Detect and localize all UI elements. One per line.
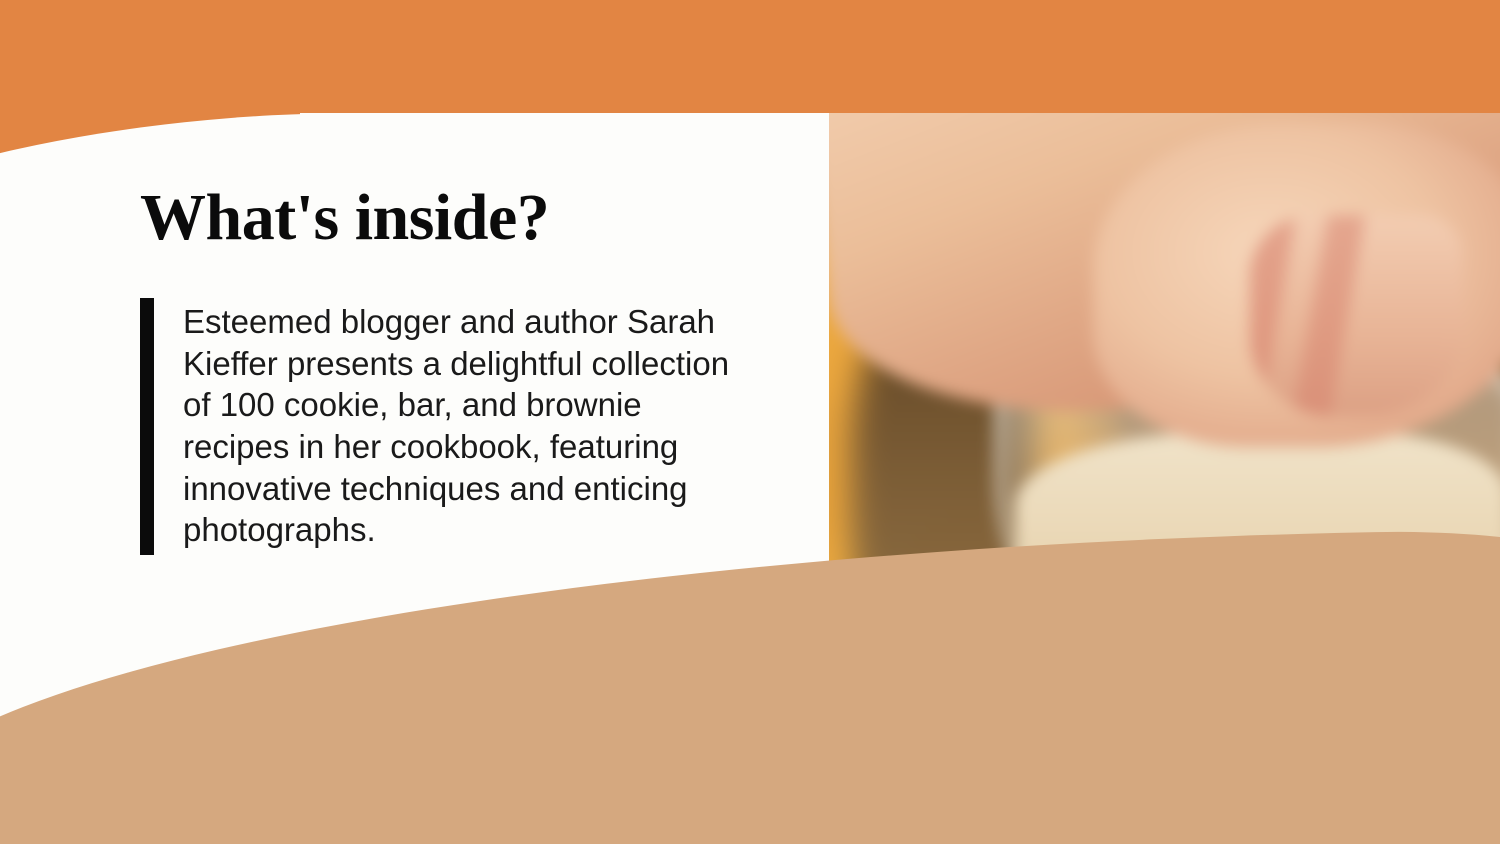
- body-paragraph: Esteemed blogger and author Sarah Kieffe…: [183, 298, 743, 554]
- photo-fingers: [1250, 215, 1463, 416]
- page-title: What's inside?: [140, 183, 780, 252]
- accent-bar: [140, 298, 154, 554]
- slide-canvas: What's inside? Esteemed blogger and auth…: [0, 0, 1500, 844]
- tan-band-over-photo: [829, 763, 1500, 844]
- text-content-group: What's inside? Esteemed blogger and auth…: [140, 183, 780, 555]
- body-block: Esteemed blogger and author Sarah Kieffe…: [140, 298, 780, 554]
